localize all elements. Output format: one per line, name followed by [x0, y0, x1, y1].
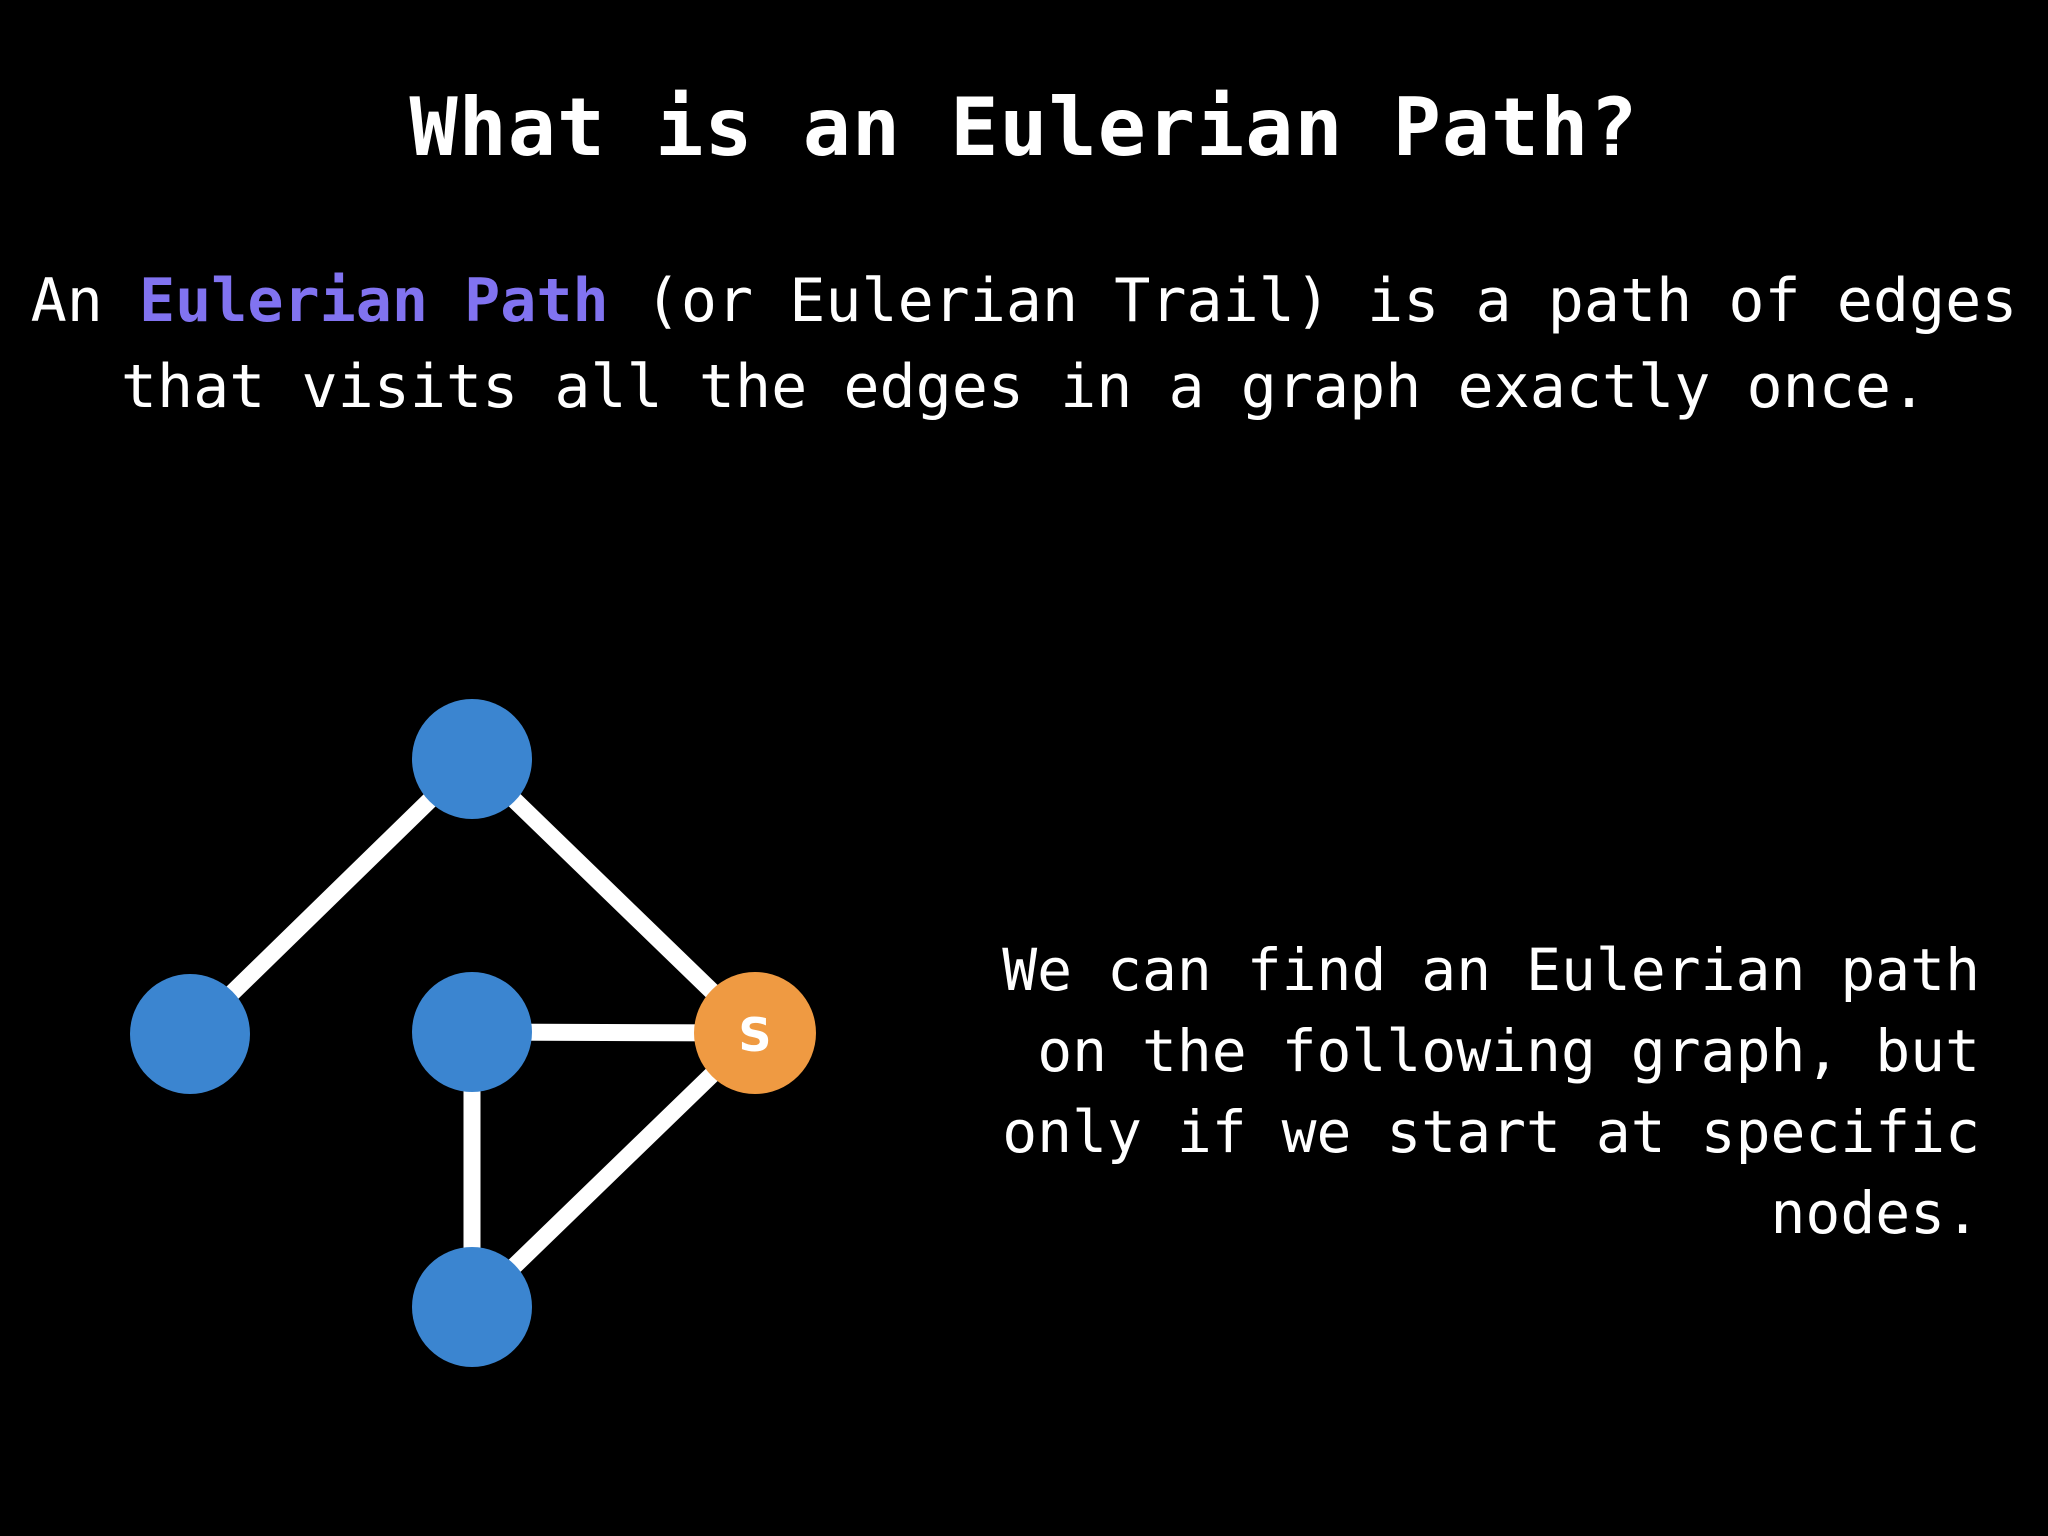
intro-accent-term: Eulerian Path — [139, 266, 609, 336]
graph-nodes-layer: S — [130, 699, 816, 1367]
graph-node[interactable]: S — [694, 972, 816, 1094]
graph-node[interactable] — [130, 974, 250, 1094]
graph-node[interactable] — [412, 699, 532, 819]
page-title: What is an Eulerian Path? — [0, 80, 2048, 176]
slide-canvas: What is an Eulerian Path? An Eulerian Pa… — [0, 0, 2048, 1536]
graph-node-circle[interactable] — [130, 974, 250, 1094]
graph-node-circle[interactable] — [412, 972, 532, 1092]
graph-node[interactable] — [412, 972, 532, 1092]
intro-lead: An — [31, 266, 139, 336]
graph-node-circle[interactable] — [412, 1247, 532, 1367]
graph-node-label: S — [738, 1008, 771, 1062]
intro-paragraph: An Eulerian Path (or Eulerian Trail) is … — [16, 258, 2032, 430]
graph-svg: S — [0, 620, 960, 1440]
graph-node[interactable] — [412, 1247, 532, 1367]
graph-node-circle[interactable] — [412, 699, 532, 819]
eulerian-graph-figure: S — [0, 620, 960, 1440]
graph-caption: We can find an Eulerian path on the foll… — [970, 930, 1980, 1254]
